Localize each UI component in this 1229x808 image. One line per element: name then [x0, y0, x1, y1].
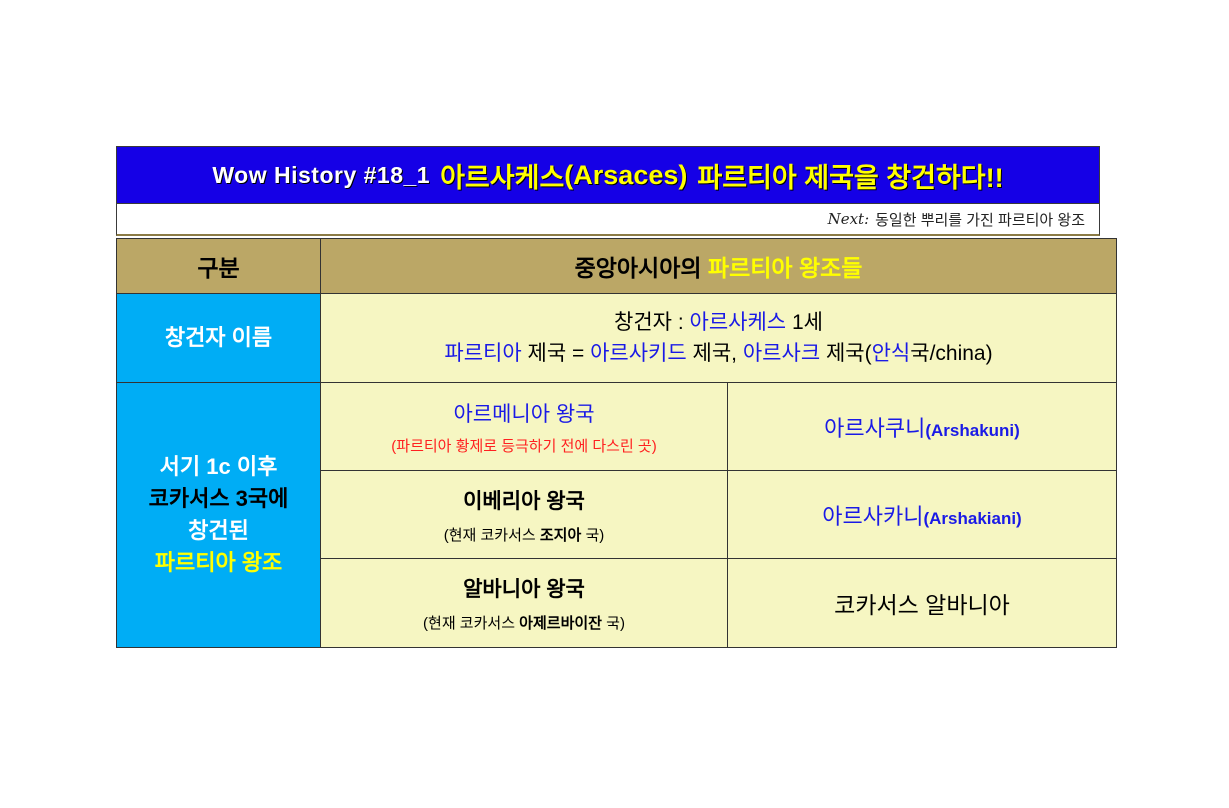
iberia-note-suffix: 국): [581, 527, 604, 544]
dynasty-latin-arshakiani: (Arshakiani): [923, 509, 1021, 528]
kingdom-cell-iberia: 이베리아 왕국 (현재 코카서스 조지아 국): [321, 471, 728, 559]
founder-line-2: 파르티아 제국 = 아르사키드 제국, 아르사크 제국(안식국/china): [321, 338, 1116, 370]
row-label-caucasus: 서기 1c 이후 코카서스 3국에 창건된 파르티아 왕조: [117, 383, 321, 648]
next-label: Next:: [828, 210, 870, 228]
row-label-founder: 창건자 이름: [117, 294, 321, 383]
table-header-row: 구분 중앙아시아의 파르티아 왕조들: [117, 239, 1117, 294]
kingdom-name-iberia: 이베리아 왕국: [321, 485, 727, 515]
title-korean: 아르사케스: [440, 156, 564, 195]
kingdom-note-albania: (현재 코카서스 아제르바이잔 국): [321, 612, 727, 633]
next-text: 동일한 뿌리를 가진 파르티아 왕조: [875, 209, 1085, 230]
founder-ordinal: 1세: [786, 311, 823, 334]
next-strip: Next: 동일한 뿌리를 가진 파르티아 왕조: [116, 204, 1100, 236]
kingdom-cell-albania: 알바니아 왕국 (현재 코카서스 아제르바이잔 국): [321, 559, 728, 648]
title-latin: (Arsaces): [564, 160, 687, 191]
header-cell-category: 구분: [117, 239, 321, 294]
iberia-note-prefix: (현재 코카서스: [444, 527, 540, 544]
caucasus-label-line-1: 서기 1c 이후: [117, 451, 320, 483]
table-row: 창건자 이름 창건자 : 아르사케스 1세 파르티아 제국 = 아르사키드 제국…: [117, 294, 1117, 383]
empire-ansik: 안식: [872, 342, 911, 365]
albania-note-suffix: 국): [602, 615, 625, 632]
dynasty-cell-arshakuni: 아르사쿠니(Arshakuni): [728, 383, 1117, 471]
founder-line-1: 창건자 : 아르사케스 1세: [321, 307, 1116, 339]
founder-content-cell: 창건자 : 아르사케스 1세 파르티아 제국 = 아르사키드 제국, 아르사크 …: [321, 294, 1117, 383]
iberia-note-country: 조지아: [540, 527, 581, 544]
empire-sep1: 제국,: [687, 342, 743, 365]
dynasty-cell-caucasian-albania: 코카서스 알바니아: [728, 559, 1117, 648]
dynasty-cell-arshakiani: 아르사카니(Arshakiani): [728, 471, 1117, 559]
dynasty-name-arshakiani: 아르사카니: [822, 504, 923, 529]
founder-name: 아르사케스: [690, 311, 787, 334]
empire-open-paren: 제국(: [820, 342, 871, 365]
header-dynasties-yellow: 파르티아 왕조들: [708, 255, 863, 281]
table-row: 서기 1c 이후 코카서스 3국에 창건된 파르티아 왕조 아르메니아 왕국 (…: [117, 383, 1117, 471]
caucasus-label-line-4: 파르티아 왕조: [117, 547, 320, 579]
header-category-label: 구분: [197, 255, 239, 281]
caucasus-label-line-2: 코카서스 3국에: [117, 483, 320, 515]
founder-prefix: 창건자 :: [614, 311, 689, 334]
content-table: 구분 중앙아시아의 파르티아 왕조들 창건자 이름 창건자 : 아르사케스 1세: [116, 238, 1117, 648]
empire-parthia: 파르티아: [444, 342, 521, 365]
empire-arsacid: 아르사키드: [590, 342, 687, 365]
kingdom-name-armenia: 아르메니아 왕국: [321, 398, 727, 428]
kingdom-note-armenia: (파르티아 황제로 등극하기 전에 다스린 곳): [321, 435, 727, 456]
slide-canvas: Wow History #18_1 아르사케스(Arsaces)파르티아 제국을…: [0, 0, 1229, 808]
series-label: Wow History #18_1: [212, 162, 430, 189]
kingdom-name-albania: 알바니아 왕국: [321, 573, 727, 603]
dynasty-latin-arshakuni: (Arshakuni): [925, 421, 1019, 440]
caucasus-label-line-3: 창건된: [117, 515, 320, 547]
empire-equals: 제국 =: [522, 342, 590, 365]
header-dynasties-black: 중앙아시아의: [575, 255, 702, 281]
dynasty-name-arshakuni: 아르사쿠니: [824, 416, 925, 441]
header-cell-dynasties: 중앙아시아의 파르티아 왕조들: [321, 239, 1117, 294]
row-label-founder-text: 창건자 이름: [165, 325, 272, 350]
dynasty-name-caucasian-albania: 코카서스 알바니아: [834, 592, 1010, 618]
title-banner: Wow History #18_1 아르사케스(Arsaces)파르티아 제국을…: [116, 146, 1100, 204]
kingdom-cell-armenia: 아르메니아 왕국 (파르티아 황제로 등극하기 전에 다스린 곳): [321, 383, 728, 471]
title-rest: 파르티아 제국을 창건하다!!: [697, 156, 1003, 195]
albania-note-country: 아제르바이잔: [519, 615, 602, 632]
empire-china-note: 국/china): [910, 342, 992, 365]
kingdom-note-iberia: (현재 코카서스 조지아 국): [321, 524, 727, 545]
empire-arsak: 아르사크: [743, 342, 820, 365]
albania-note-prefix: (현재 코카서스: [423, 615, 519, 632]
